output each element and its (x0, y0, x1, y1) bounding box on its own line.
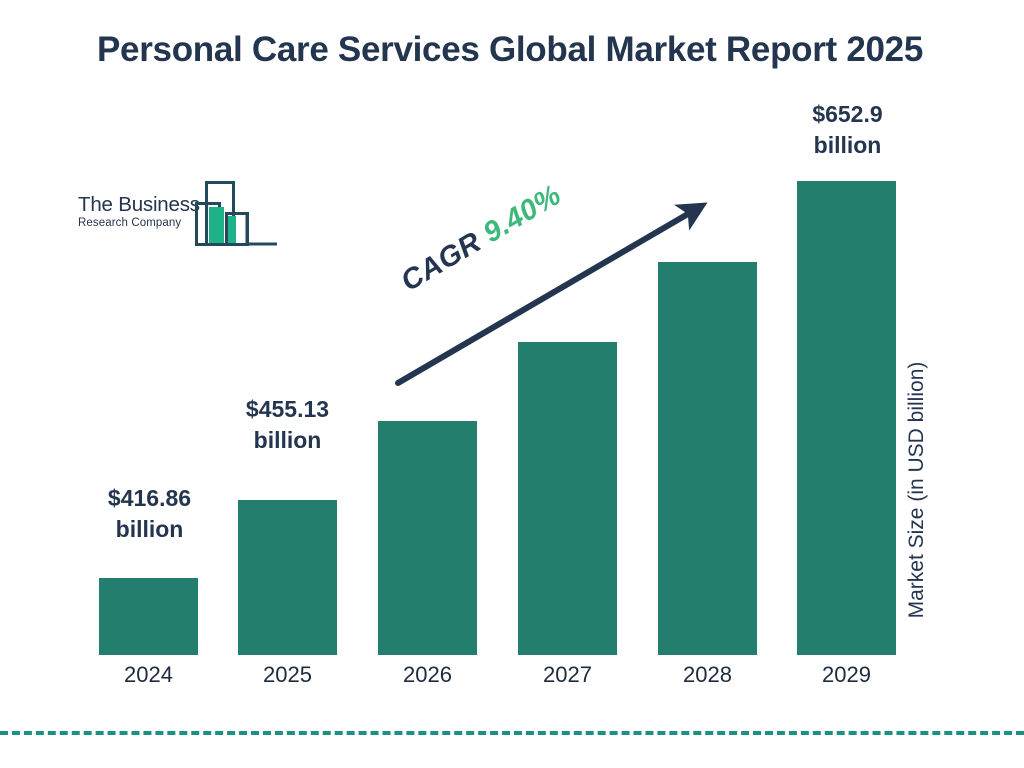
y-axis-label: Market Size (in USD billion) (905, 0, 929, 300)
bar-2029[interactable] (797, 181, 896, 655)
bar-2025[interactable] (238, 500, 337, 655)
x-tick-2024: 2024 (99, 664, 198, 686)
bar-2024[interactable] (99, 578, 198, 655)
bar-chart-plot-area: $416.86 billion 2024 $455.13 billion 202… (0, 0, 1024, 768)
y-axis-label-text: Market Size (in USD billion) (905, 300, 929, 680)
chart-canvas: Personal Care Services Global Market Rep… (0, 0, 1024, 768)
x-tick-2027: 2027 (518, 664, 617, 686)
x-tick-2028: 2028 (658, 664, 757, 686)
bar-2027[interactable] (518, 342, 617, 655)
x-tick-2029: 2029 (797, 664, 896, 686)
bar-value-2025: $455.13 billion (200, 394, 375, 456)
bar-value-2024: $416.86 billion (62, 483, 237, 545)
x-tick-2026: 2026 (378, 664, 477, 686)
footer-divider (0, 731, 1024, 735)
bar-2028[interactable] (658, 262, 757, 655)
bar-2026[interactable] (378, 421, 477, 655)
x-tick-2025: 2025 (238, 664, 337, 686)
